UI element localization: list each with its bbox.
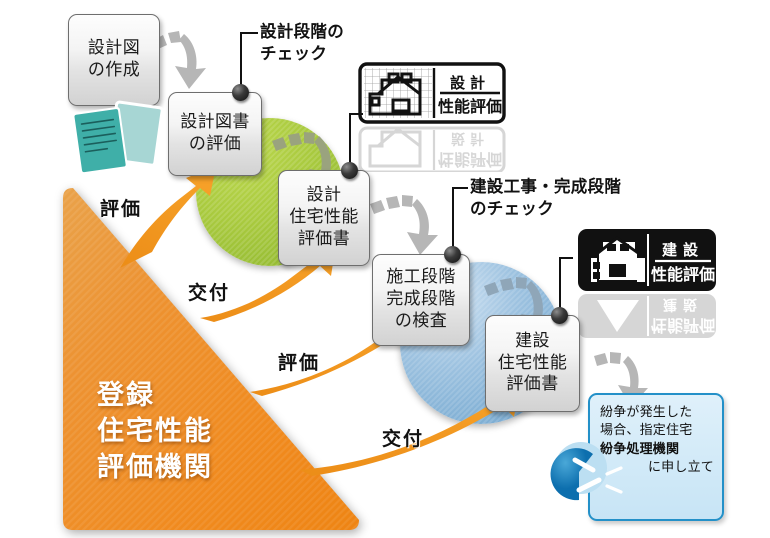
construction-seal-reflection: 性能評価 建設: [577, 292, 717, 338]
construction-seal-top-text: 建設: [662, 241, 704, 259]
diagram-canvas: 登録 住宅性能 評価機関: [0, 0, 770, 538]
design-seal-reflection: 性能評価 設計: [358, 126, 506, 172]
leader-line-design-check: [240, 33, 242, 88]
step-box-design-housing-performance-report[interactable]: 設計 住宅性能 評価書: [278, 170, 370, 266]
step-label: 設計 住宅性能 評価書: [279, 185, 369, 250]
step-box-design-document-evaluation[interactable]: 設計図書 の評価: [168, 92, 262, 176]
step-label: 建設 住宅性能 評価書: [486, 331, 579, 396]
leader-line-design-check-h: [240, 32, 258, 34]
step-box-construction-housing-performance-report[interactable]: 建設 住宅性能 評価書: [485, 315, 580, 412]
dispute-line-1: 紛争が発生した: [600, 404, 714, 422]
flow-label-issuance-2: 交付: [382, 424, 424, 451]
design-seal-bottom-text: 性能評価: [438, 97, 502, 116]
design-seal-top-text: 設計: [450, 74, 490, 92]
leader-line-construction-seal: [559, 258, 561, 311]
flow-label-evaluation-1: 評価: [100, 194, 142, 221]
knob-design-report: [341, 162, 358, 179]
flow-label-evaluation-2: 評価: [278, 348, 320, 375]
design-performance-evaluation-seal: 設計 性能評価: [358, 62, 506, 124]
knob-design-document-evaluation: [232, 84, 249, 101]
step-box-construction-stage-inspection[interactable]: 施工段階 完成段階 の検査: [372, 254, 470, 346]
step-label: 施工段階 完成段階 の検査: [373, 267, 469, 332]
svg-text:性能評価: 性能評価: [438, 150, 502, 169]
svg-text:建設: 建設: [663, 296, 703, 313]
leader-line-construction-check-h: [452, 187, 468, 189]
construction-performance-evaluation-seal: 建設 性能評価: [577, 228, 717, 292]
knob-construction-inspection: [444, 246, 461, 263]
leader-line-design-seal: [349, 114, 351, 166]
step-box-design-drawing-creation[interactable]: 設計図 の作成: [68, 14, 160, 106]
broken-circle-icon: [545, 438, 637, 520]
callout-design-stage-check: 設計段階の チェック: [260, 21, 344, 65]
step-label: 設計図 の作成: [69, 38, 159, 82]
leader-line-construction-check: [452, 188, 454, 250]
documents-icon: [63, 97, 169, 193]
leader-line-construction-seal-h: [559, 257, 573, 259]
knob-construction-report: [551, 307, 568, 324]
svg-text:設計: 設計: [451, 130, 489, 147]
flow-label-issuance-1: 交付: [188, 278, 230, 305]
agency-label: 登録 住宅性能 評価機関: [97, 378, 213, 487]
svg-text:性能評価: 性能評価: [651, 316, 715, 335]
callout-construction-stage-check: 建設工事・完成段階 のチェック: [470, 176, 621, 220]
construction-seal-bottom-text: 性能評価: [651, 265, 715, 284]
step-label: 設計図書 の評価: [169, 112, 261, 156]
gray-arrow-3: [366, 190, 444, 262]
leader-line-design-seal-h: [349, 113, 363, 115]
